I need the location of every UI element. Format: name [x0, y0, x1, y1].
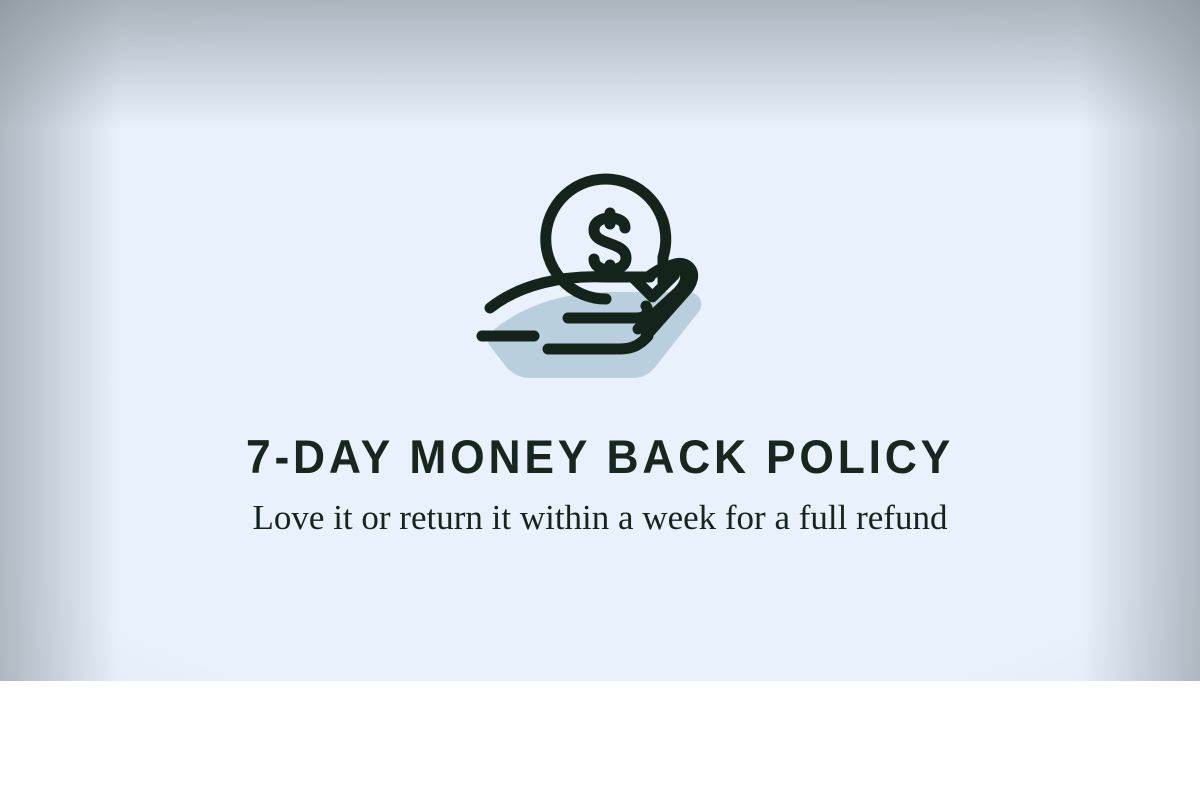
footer-bar: Rydell (701) 772-7211 rydellchev.com [0, 681, 1200, 800]
money-back-hand-icon [460, 150, 740, 390]
page-subtitle: Love it or return it within a week for a… [250, 495, 950, 541]
hero-section: 7-DAY MONEY BACK POLICY Love it or retur… [0, 0, 1200, 681]
promo-card: 7-DAY MONEY BACK POLICY Love it or retur… [0, 0, 1200, 800]
page-title: 7-DAY MONEY BACK POLICY [33, 432, 1167, 482]
